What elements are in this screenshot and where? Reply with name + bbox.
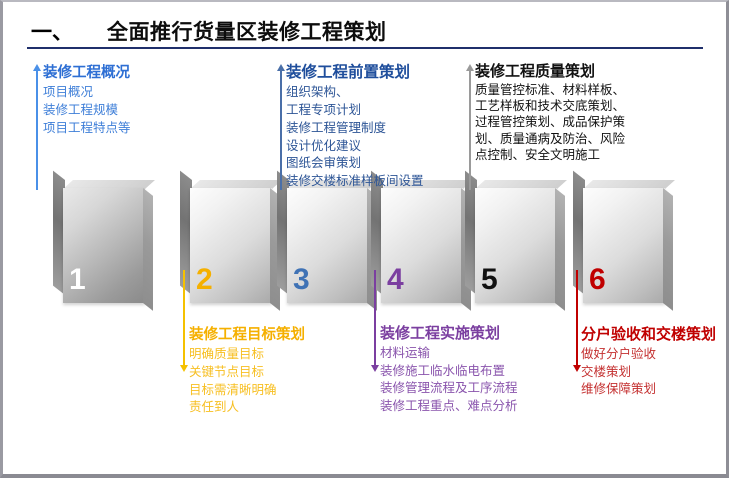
arrow-down-icon (573, 365, 581, 372)
block-item: 关键节点目标 (189, 363, 305, 381)
arrow-down-icon (180, 365, 188, 372)
cube-number-4: 4 (387, 265, 404, 295)
cube-number-3: 3 (293, 265, 310, 295)
block-item: 组织架构、 (286, 83, 424, 101)
block-heading: 装修工程质量策划 (475, 62, 637, 81)
cube-number-1: 1 (69, 265, 86, 295)
block-item: 做好分户验收 (581, 345, 716, 363)
page-title: 一、 全面推行货量区装修工程策划 (31, 16, 387, 46)
arrow-up-icon (33, 64, 41, 71)
arrow-up-icon (466, 64, 474, 71)
cube-2[interactable]: 2 (180, 180, 272, 303)
cube-number-5: 5 (481, 265, 498, 295)
block-item: 项目工程特点等 (43, 119, 131, 137)
block-heading: 分户验收和交楼策划 (581, 325, 716, 344)
connector-line-4 (374, 270, 376, 366)
block-heading: 装修工程概况 (43, 64, 131, 82)
cube-number-2: 2 (196, 265, 213, 295)
text-block-quality-planning: 装修工程质量策划 质量管控标准、材料样板、工艺样板和技术交底策划、过程管控策划、… (475, 62, 637, 163)
cube-5[interactable]: 5 (465, 180, 557, 303)
cube-number-6: 6 (589, 265, 606, 295)
cube-right-face (663, 188, 673, 311)
connector-line-2 (183, 270, 185, 366)
cube-right-face (143, 188, 153, 311)
text-block-implementation-planning: 装修工程实施策划 材料运输 装修施工临水临电布置 装修管理流程及工序流程 装修工… (380, 324, 518, 415)
cube-3[interactable]: 3 (277, 180, 369, 303)
connector-line-6 (576, 270, 578, 366)
block-item: 维修保障策划 (581, 380, 716, 398)
cube-4[interactable]: 4 (371, 180, 463, 303)
block-item: 装修工程重点、难点分析 (380, 397, 518, 415)
block-item: 材料运输 (380, 344, 518, 362)
text-block-overview: 装修工程概况 项目概况 装修工程规模 项目工程特点等 (43, 64, 131, 136)
connector-line-3 (280, 70, 282, 190)
text-block-goal-planning: 装修工程目标策划 明确质量目标 关键节点目标 目标需清晰明确 责任到人 (189, 326, 305, 416)
block-item: 目标需清晰明确 (189, 381, 305, 399)
connector-line-5 (469, 70, 471, 190)
block-item: 设计优化建议 (286, 137, 424, 155)
text-block-pre-planning: 装修工程前置策划 组织架构、 工程专项计划 装修工程管理制度 设计优化建议 图纸… (286, 63, 424, 190)
slide-canvas: 一、 全面推行货量区装修工程策划 1 2 3 (0, 0, 729, 478)
block-heading: 装修工程前置策划 (286, 63, 424, 82)
block-item: 装修施工临水临电布置 (380, 362, 518, 380)
text-block-acceptance-handover-planning: 分户验收和交楼策划 做好分户验收 交楼策划 维修保障策划 (581, 325, 716, 398)
block-item: 装修工程规模 (43, 101, 131, 119)
block-heading: 装修工程实施策划 (380, 324, 518, 343)
block-item: 责任到人 (189, 398, 305, 416)
cube-1[interactable]: 1 (53, 180, 145, 303)
title-divider (27, 47, 703, 49)
block-item: 装修交楼标准样板间设置 (286, 172, 424, 190)
block-item: 明确质量目标 (189, 345, 305, 363)
block-item: 装修管理流程及工序流程 (380, 379, 518, 397)
arrow-up-icon (277, 64, 285, 71)
title-text: 全面推行货量区装修工程策划 (107, 16, 387, 46)
block-item: 工程专项计划 (286, 101, 424, 119)
connector-line-1 (36, 70, 38, 190)
cube-right-face (555, 188, 565, 311)
block-item: 图纸会审策划 (286, 154, 424, 172)
title-number: 一、 (31, 16, 73, 46)
arrow-down-icon (371, 365, 379, 372)
block-paragraph: 质量管控标准、材料样板、工艺样板和技术交底策划、过程管控策划、成品保护策划、质量… (475, 82, 637, 163)
block-item: 项目概况 (43, 83, 131, 101)
block-item: 交楼策划 (581, 363, 716, 381)
block-heading: 装修工程目标策划 (189, 326, 305, 344)
cube-6[interactable]: 6 (573, 180, 665, 303)
slide-inner: 一、 全面推行货量区装修工程策划 1 2 3 (3, 2, 726, 474)
block-item: 装修工程管理制度 (286, 119, 424, 137)
